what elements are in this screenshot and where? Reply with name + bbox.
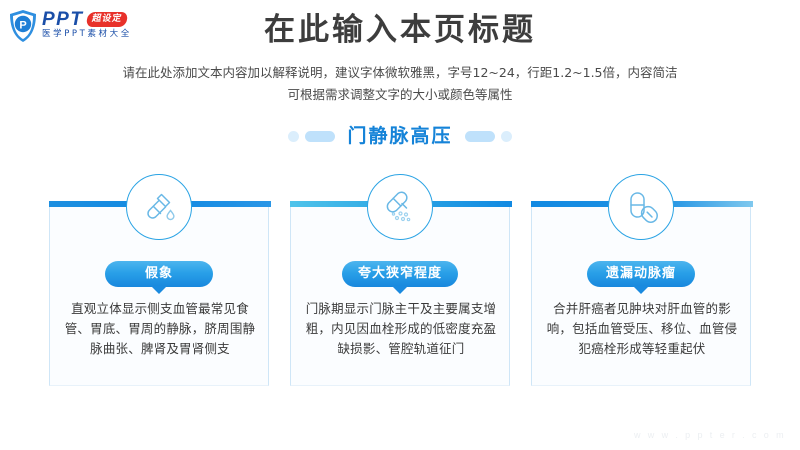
page-title: 在此输入本页标题 bbox=[0, 12, 800, 49]
card-item[interactable]: 夸大狭窄程度 门脉期显示门脉主干及主要属支增粗，内见因血栓形成的低密度充盈缺损影… bbox=[290, 204, 510, 386]
subtitle-line-2: 可根据需求调整文字的大小或颜色等属性 bbox=[0, 84, 800, 106]
banner-dot-icon bbox=[288, 131, 299, 142]
open-capsule-granules-icon bbox=[367, 174, 433, 240]
card-item[interactable]: 假象 直观立体显示侧支血管最常见食管、胃底、胃周的静脉，脐周围静脉曲张、脾肾及胃… bbox=[49, 204, 269, 386]
card-body-text: 门脉期显示门脉主干及主要属支增粗，内见因血栓形成的低密度充盈缺损影、管腔轨道征门 bbox=[305, 299, 497, 358]
banner-dot-icon bbox=[501, 131, 512, 142]
test-tube-drop-icon bbox=[126, 174, 192, 240]
banner-decoration-right bbox=[465, 131, 512, 142]
footer-watermark: w w w . p p t e r . c o m bbox=[634, 430, 786, 440]
card-badge: 假象 bbox=[105, 261, 213, 287]
section-banner: 门静脉高压 bbox=[0, 120, 800, 152]
subtitle-line-1: 请在此处添加文本内容加以解释说明，建议字体微软雅黑，字号12~24，行距1.2~… bbox=[0, 62, 800, 84]
two-capsules-icon bbox=[608, 174, 674, 240]
card-badge: 夸大狭窄程度 bbox=[342, 261, 458, 287]
card-body-text: 合并肝癌者见肿块对肝血管的影响，包括血管受压、移位、血管侵犯癌栓形成等轻重起伏 bbox=[546, 299, 738, 358]
card-item[interactable]: 遗漏动脉瘤 合并肝癌者见肿块对肝血管的影响，包括血管受压、移位、血管侵犯癌栓形成… bbox=[531, 204, 751, 386]
banner-pill-icon bbox=[465, 131, 495, 142]
banner-pill-icon bbox=[305, 131, 335, 142]
card-list: 假象 直观立体显示侧支血管最常见食管、胃底、胃周的静脉，脐周围静脉曲张、脾肾及胃… bbox=[0, 204, 800, 386]
card-body-text: 直观立体显示侧支血管最常见食管、胃底、胃周的静脉，脐周围静脉曲张、脾肾及胃肾侧支 bbox=[64, 299, 256, 358]
banner-decoration-left bbox=[288, 131, 335, 142]
card-badge: 遗漏动脉瘤 bbox=[587, 261, 695, 287]
section-heading: 门静脉高压 bbox=[335, 127, 464, 146]
page-subtitle: 请在此处添加文本内容加以解释说明，建议字体微软雅黑，字号12~24，行距1.2~… bbox=[0, 62, 800, 106]
